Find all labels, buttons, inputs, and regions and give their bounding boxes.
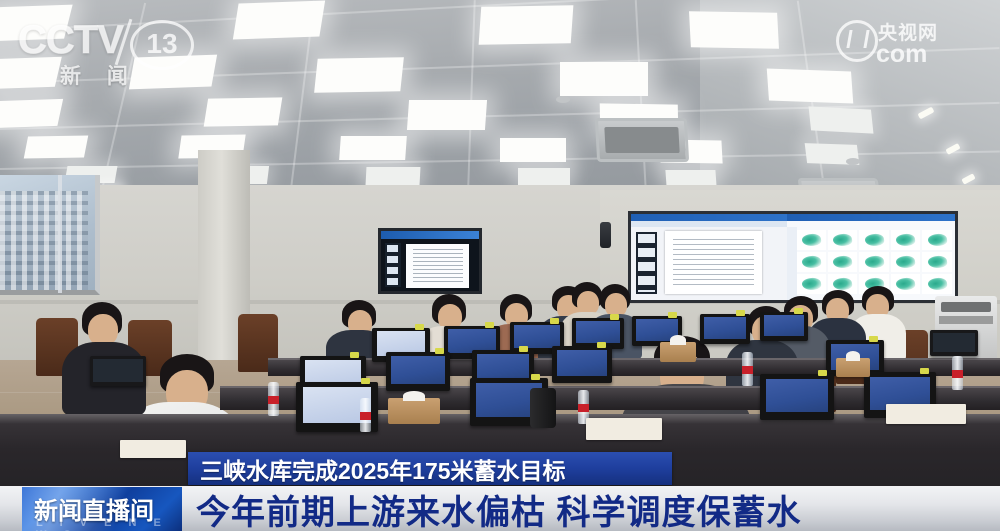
screen-thumbnail-pane — [385, 243, 401, 287]
laptop — [90, 356, 146, 386]
program-logo: 新闻直播间 L I V E N E W S — [22, 487, 182, 531]
screen-titlebar — [381, 231, 479, 239]
headline-text: 今年前期上游来水偏枯 科学调度保蓄水 — [196, 487, 801, 531]
map-thumbnail — [891, 252, 920, 272]
ac-vent — [595, 118, 689, 162]
thermos — [530, 388, 556, 428]
map-thumbnail — [859, 230, 888, 250]
map-thumbnail — [828, 252, 857, 272]
window-frame — [0, 175, 100, 295]
app-ribbon — [631, 221, 787, 227]
ceiling-light-panel — [366, 167, 421, 185]
water-bottle — [952, 356, 963, 390]
tissue-box — [660, 342, 696, 362]
map-thumbnail — [797, 252, 826, 272]
ceiling-light-panel — [689, 11, 779, 49]
ceiling-light-panel — [0, 99, 63, 128]
documents — [120, 440, 186, 458]
smoke-detector-icon — [556, 96, 570, 103]
map-thumbnail — [797, 274, 826, 294]
ceiling-light-panel — [767, 69, 854, 104]
ceiling-light-panel — [500, 138, 566, 162]
documents — [586, 418, 662, 440]
topic-banner-text: 三峡水库完成2025年175米蓄水目标 — [188, 452, 566, 486]
water-bottle — [360, 398, 371, 432]
screen-document-pane — [406, 244, 469, 288]
topic-banner: 三峡水库完成2025年175米蓄水目标 — [188, 452, 672, 485]
desk-monitor — [386, 352, 450, 391]
laptop — [930, 330, 978, 356]
map-thumbnail — [891, 274, 920, 294]
video-wall-display — [628, 211, 958, 303]
program-subtitle: L I V E N E W S — [36, 517, 182, 531]
tissue-box — [388, 398, 440, 424]
desk-monitor — [760, 312, 808, 341]
side-display-screen — [378, 228, 482, 294]
dashboard-sidenav — [787, 227, 797, 303]
map-thumbnail — [859, 252, 888, 272]
tissue-box — [836, 358, 870, 377]
ceiling-light-panel — [0, 5, 73, 42]
map-thumbnail — [922, 252, 951, 272]
water-bottle — [268, 382, 279, 416]
dashboard-titlebar — [787, 214, 955, 221]
ceiling-light-panel — [407, 100, 487, 130]
ceiling-light-panel — [129, 55, 217, 90]
ceiling-light-panel — [204, 97, 283, 126]
hydrology-map-grid — [797, 230, 952, 294]
ceiling-light-panel — [518, 168, 570, 186]
map-thumbnail — [891, 230, 920, 250]
smoke-detector-icon — [846, 158, 860, 165]
ceiling-light-panel — [233, 1, 325, 40]
documents — [886, 404, 966, 424]
ceiling-light-panel — [24, 135, 89, 158]
desk-monitor — [700, 314, 750, 344]
ceiling-light-panel — [560, 62, 648, 96]
window-mullion — [58, 175, 62, 293]
desk-monitor — [760, 374, 834, 420]
document-thumbnail-pane — [636, 232, 658, 294]
broadcast-frame: CCTV 13 新 闻 央视网 com 三峡水库完成2025年175米蓄水目标 … — [0, 0, 1000, 531]
ceiling-light-panel — [339, 136, 407, 160]
water-bottle — [742, 352, 753, 386]
ceiling-light-panel — [809, 106, 874, 133]
app-titlebar — [631, 214, 787, 221]
map-thumbnail — [828, 230, 857, 250]
ceiling-light-panel — [0, 57, 62, 90]
ceiling-light-panel — [314, 57, 404, 92]
wall-speaker — [600, 222, 611, 248]
ceiling-light-panel — [479, 5, 574, 45]
map-thumbnail — [922, 230, 951, 250]
video-wall-left-pane — [631, 214, 787, 300]
desk-monitor — [552, 346, 612, 383]
map-thumbnail — [922, 274, 951, 294]
map-thumbnail — [797, 230, 826, 250]
document-page — [665, 231, 761, 294]
